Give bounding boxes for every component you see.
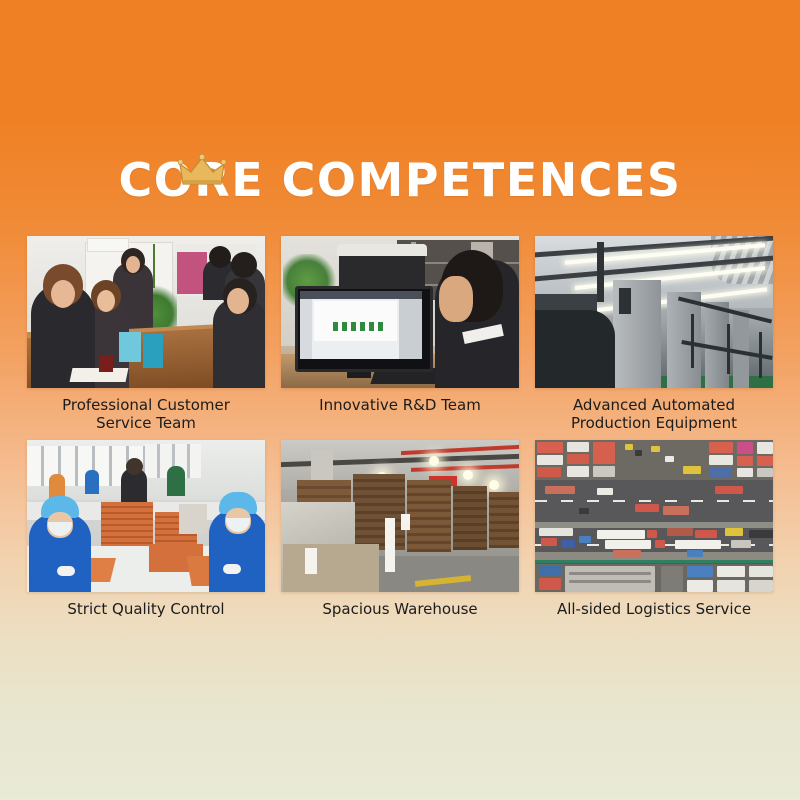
warehouse-pallets-photo xyxy=(281,440,519,592)
competence-card-professional-customer-service-team[interactable]: Professional Customer Service Team xyxy=(27,236,265,432)
quality-control-workers-photo xyxy=(27,440,265,592)
competence-row-2: Strict Quality Control xyxy=(27,440,773,619)
competence-caption: Spacious Warehouse xyxy=(281,600,519,619)
competence-caption: Professional Customer Service Team xyxy=(27,396,265,432)
competence-card-strict-quality-control[interactable]: Strict Quality Control xyxy=(27,440,265,619)
caption-line: Innovative R&D Team xyxy=(281,396,519,415)
competence-caption: All-sided Logistics Service xyxy=(535,600,773,619)
aerial-logistics-yard-photo xyxy=(535,440,773,592)
competence-caption: Innovative R&D Team xyxy=(281,396,519,415)
caption-line: Production Equipment xyxy=(535,414,773,432)
meeting-room-photo xyxy=(27,236,265,388)
banner-heading: CORE COMPETENCES xyxy=(0,150,800,210)
competence-row-1: Professional Customer Service Team xyxy=(27,236,773,432)
printing-press-photo xyxy=(535,236,773,388)
competence-card-advanced-automated-production-equipment[interactable]: Advanced Automated Production Equipment xyxy=(535,236,773,432)
competence-caption: Advanced Automated Production Equipment xyxy=(535,396,773,432)
designer-at-monitor-photo xyxy=(281,236,519,388)
competence-card-all-sided-logistics-service[interactable]: All-sided Logistics Service xyxy=(535,440,773,619)
caption-line: All-sided Logistics Service xyxy=(535,600,773,619)
competence-caption: Strict Quality Control xyxy=(27,600,265,619)
competence-grid: Professional Customer Service Team xyxy=(27,236,773,619)
caption-line: Advanced Automated xyxy=(535,396,773,414)
competence-card-innovative-rd-team[interactable]: Innovative R&D Team xyxy=(281,236,519,432)
caption-line: Professional Customer xyxy=(27,396,265,414)
crown-icon xyxy=(178,154,226,188)
caption-line: Strict Quality Control xyxy=(27,600,265,619)
competence-card-spacious-warehouse[interactable]: Spacious Warehouse xyxy=(281,440,519,619)
caption-line: Spacious Warehouse xyxy=(281,600,519,619)
core-competences-banner: CORE COMPETENCES Professiona xyxy=(0,0,800,800)
caption-line: Service Team xyxy=(27,414,265,432)
